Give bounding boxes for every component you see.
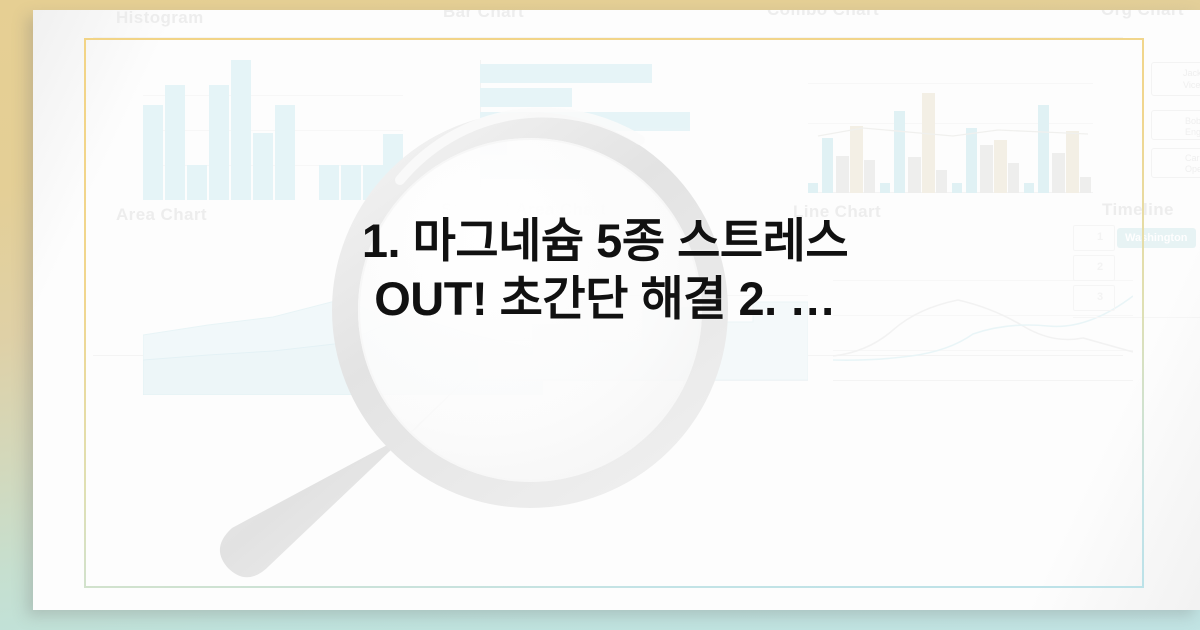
wallpaper-histogram — [143, 60, 403, 200]
wallpaper-bar-chart — [480, 60, 710, 190]
chart-label-timeline: Timeline — [1102, 200, 1174, 220]
org-node-label: Engineering — [1185, 127, 1200, 137]
wallpaper-combo-chart — [808, 58, 1118, 193]
chart-label-area-chart: Area Chart — [116, 205, 207, 225]
timeline-number: 3 — [1097, 291, 1103, 303]
timeline-number: 2 — [1097, 261, 1103, 273]
org-node-label: Operations — [1185, 164, 1200, 174]
wallpaper-timeline: 1 2 3 Washington — [1093, 225, 1200, 405]
chart-label-histogram: Histogram — [116, 10, 204, 28]
org-node-label: Bob — [1185, 116, 1200, 126]
chart-label-bar-chart: Bar Chart — [443, 10, 524, 22]
timeline-badge-washington: Washington — [1117, 228, 1196, 248]
chart-label-combo-chart: Combo Chart — [767, 10, 879, 20]
wallpaper-rule-top — [93, 37, 1123, 38]
timeline-number: 1 — [1097, 231, 1103, 243]
org-node-label: Carlos — [1185, 153, 1200, 163]
wallpaper-rule-mid — [93, 355, 1123, 356]
wallpaper-line-chart — [833, 260, 1133, 390]
page-title: 1. 마그네슘 5종 스트레스 OUT! 초간단 해결 2. … — [355, 212, 855, 329]
org-node-label: Vice President — [1183, 80, 1200, 90]
org-node-label: Jack — [1183, 68, 1200, 78]
thumbnail-frame: Histogram Bar Chart Combo Chart Org Char… — [0, 0, 1200, 630]
chart-label-org-chart: Org Chart — [1101, 10, 1184, 20]
